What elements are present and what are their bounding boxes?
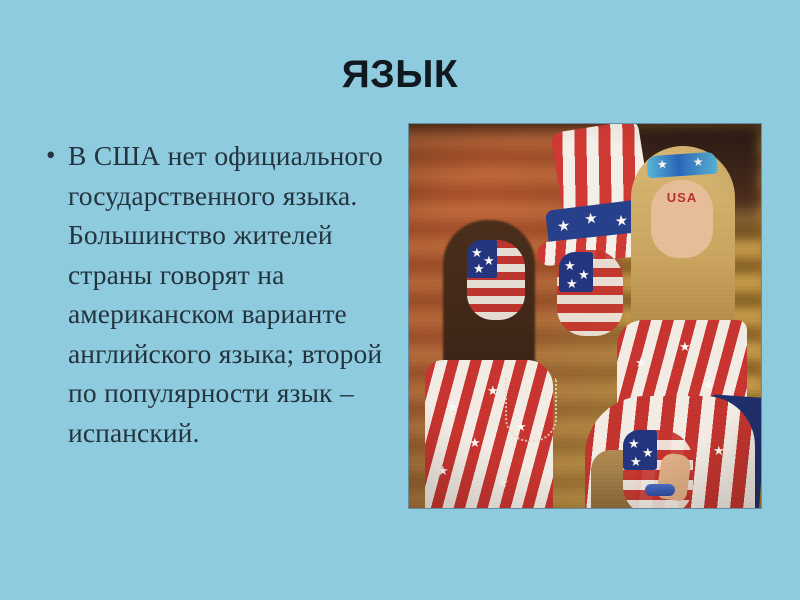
photo-usa-fans: ★ ★ ★ ★ ★ ★ ★ ★ ★ ★ ★ ★ ★ ★ ★ ★ xyxy=(409,124,761,508)
body-text-block: • В США нет официального государственног… xyxy=(46,136,394,452)
photo-grain xyxy=(409,124,761,508)
bullet-item-text: В США нет официального государственного … xyxy=(68,136,394,452)
slide: ЯЗЫК • В США нет официального государств… xyxy=(0,0,800,600)
bullet-icon: • xyxy=(46,136,68,176)
bullet-list-item: • В США нет официального государственног… xyxy=(46,136,394,452)
page-title: ЯЗЫК xyxy=(0,52,800,98)
